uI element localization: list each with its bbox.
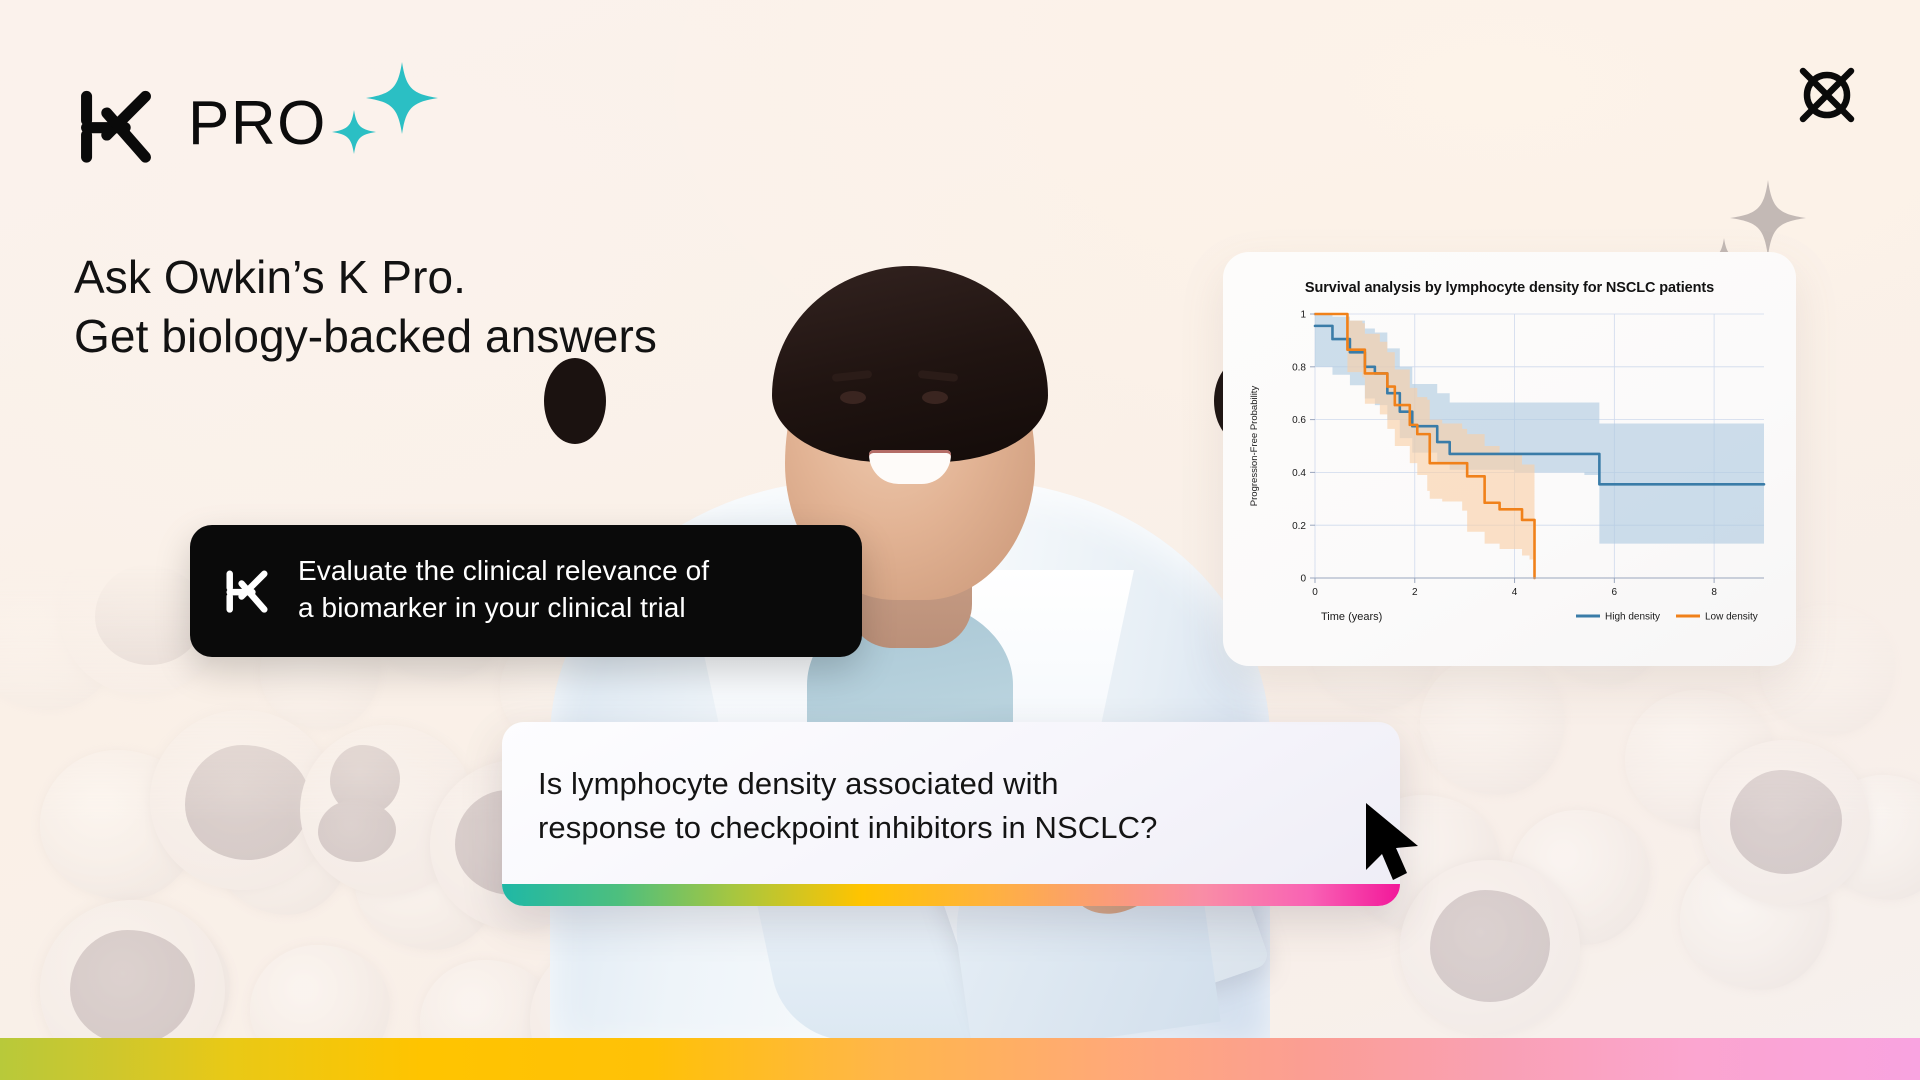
- svg-text:8: 8: [1711, 587, 1717, 598]
- brand-logo-lockup[interactable]: PRO: [70, 78, 327, 170]
- svg-text:0.6: 0.6: [1292, 415, 1306, 426]
- prompt-chip-text: Evaluate the clinical relevance of a bio…: [298, 553, 709, 627]
- svg-text:Low density: Low density: [1705, 612, 1758, 623]
- kaplan-meier-chart: 00.20.40.60.8102468Time (years)Progressi…: [1241, 302, 1778, 654]
- headline-line-1: Ask Owkin’s K Pro.: [74, 248, 657, 307]
- svg-text:0.2: 0.2: [1292, 521, 1306, 532]
- survival-chart-card[interactable]: Survival analysis by lymphocyte density …: [1223, 252, 1796, 666]
- sparkle-icon: [320, 56, 450, 166]
- svg-text:High density: High density: [1605, 612, 1660, 623]
- svg-text:0.4: 0.4: [1292, 468, 1306, 479]
- svg-text:Time (years): Time (years): [1321, 611, 1382, 623]
- question-line-2: response to checkpoint inhibitors in NSC…: [538, 806, 1354, 850]
- bubble-accent-gradient-bar: [502, 884, 1400, 906]
- svg-text:Progression-Free Probability: Progression-Free Probability: [1249, 386, 1260, 507]
- chart-title: Survival analysis by lymphocyte density …: [1241, 280, 1778, 296]
- bottom-gradient-band: [0, 1038, 1920, 1080]
- svg-text:4: 4: [1512, 587, 1518, 598]
- mouse-pointer-icon: [1360, 800, 1426, 884]
- prompt-chip-line-1: Evaluate the clinical relevance of: [298, 553, 709, 590]
- marketing-banner: PRO Ask Owkin’s K Pro. Get biology-backe…: [0, 0, 1920, 1080]
- svg-text:0: 0: [1312, 587, 1318, 598]
- brand-wordmark: PRO: [188, 93, 327, 155]
- prompt-chip-line-2: a biomarker in your clinical trial: [298, 590, 709, 627]
- svg-text:0.8: 0.8: [1292, 362, 1306, 373]
- svg-text:0: 0: [1300, 574, 1306, 585]
- question-text: Is lymphocyte density associated with re…: [502, 722, 1400, 884]
- svg-text:2: 2: [1412, 587, 1418, 598]
- question-line-1: Is lymphocyte density associated with: [538, 762, 1354, 806]
- page-title: Ask Owkin’s K Pro. Get biology-backed an…: [74, 248, 657, 366]
- owkin-circle-x-icon[interactable]: [1794, 62, 1860, 128]
- owkin-k-icon: [70, 78, 162, 170]
- svg-text:6: 6: [1612, 587, 1618, 598]
- owkin-k-icon: [220, 563, 274, 617]
- question-bubble[interactable]: Is lymphocyte density associated with re…: [502, 722, 1400, 906]
- headline-line-2: Get biology-backed answers: [74, 307, 657, 366]
- prompt-suggestion-chip[interactable]: Evaluate the clinical relevance of a bio…: [190, 525, 862, 657]
- svg-text:1: 1: [1300, 310, 1306, 321]
